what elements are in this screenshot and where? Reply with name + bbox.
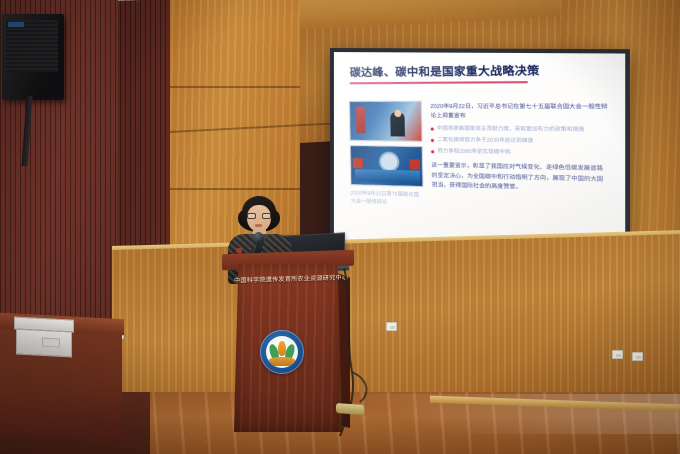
un-lectern bbox=[355, 169, 420, 183]
institute-emblem bbox=[260, 330, 304, 374]
wall-power-outlet bbox=[632, 352, 643, 361]
slide-bullet-item: 中国将提高国家自主贡献力度，采取更加有力的政策和措施 bbox=[431, 125, 609, 135]
cable-floor-clip bbox=[336, 403, 364, 415]
bullet-dot-icon bbox=[431, 151, 434, 154]
presenter-mouth bbox=[255, 224, 262, 227]
microphone-head-icon bbox=[254, 232, 263, 241]
slide-title-underline bbox=[350, 81, 528, 84]
slide-bullet-text: 中国将提高国家自主贡献力度，采取更加有力的政策和措施 bbox=[437, 125, 584, 135]
wall-power-outlet bbox=[612, 350, 623, 359]
slide-body: 2020年9月22日第75届联合国大会一般性辩论 2020年9月22日，习近平总… bbox=[349, 101, 610, 214]
slide-bullet-text: 努力争取2060年前实现碳中和 bbox=[437, 149, 511, 158]
slide-title: 碳达峰、碳中和是国家重大战略决策 bbox=[350, 61, 610, 80]
emblem-flame-icon bbox=[278, 341, 286, 356]
slide-text-column: 2020年9月22日，习近平总书记在第七十五届联合国大会一般性辩论上郑重宣布 中… bbox=[430, 101, 610, 214]
speaker-face bbox=[394, 110, 401, 117]
slide-lead-text: 2020年9月22日，习近平总书记在第七十五届联合国大会一般性辩论上郑重宣布 bbox=[430, 103, 608, 123]
conference-hall-photo: 碳达峰、碳中和是国家重大战略决策 bbox=[0, 0, 680, 454]
box-label bbox=[42, 338, 60, 348]
slide-bullet-text: 二氧化碳排放力争于2030年前达到峰值 bbox=[437, 137, 533, 146]
podium: 中国科学院遗传发育所农业资源研究中心 bbox=[228, 252, 346, 432]
slide-images: 2020年9月22日第75届联合国大会一般性辩论 bbox=[349, 101, 424, 208]
speaker-indicator bbox=[8, 22, 24, 27]
emblem-field-icon bbox=[269, 357, 295, 366]
glasses-icon bbox=[247, 213, 271, 219]
wall-mounted-loudspeaker bbox=[2, 14, 64, 100]
speaker-grill bbox=[6, 20, 58, 72]
slide-bullet-item: 努力争取2060年前实现碳中和 bbox=[431, 149, 609, 160]
slide-bullet-item: 二氧化碳排放力争于2030年前达到峰值 bbox=[431, 137, 609, 147]
emblem-inner bbox=[266, 336, 298, 368]
un-hall-panel-left bbox=[353, 158, 363, 168]
bullet-dot-icon bbox=[431, 127, 434, 130]
un-hall-panel-right bbox=[410, 159, 421, 169]
bullet-dot-icon bbox=[431, 139, 434, 142]
chinese-flag bbox=[356, 107, 365, 133]
slide-bullet-list: 中国将提高国家自主贡献力度，采取更加有力的政策和措施 二氧化碳排放力争于2030… bbox=[431, 125, 609, 159]
wall-power-outlet bbox=[386, 322, 397, 331]
slide-image-speech-photo bbox=[349, 101, 423, 142]
slide-image-un-assembly bbox=[350, 145, 424, 187]
slide-image-caption: 2020年9月22日第75届联合国大会一般性辩论 bbox=[350, 189, 423, 208]
slide-paragraph: 这一重要宣示，彰显了我国应对气候变化、走绿色低碳发展道路的坚定决心，为全国碳中和… bbox=[431, 162, 609, 197]
